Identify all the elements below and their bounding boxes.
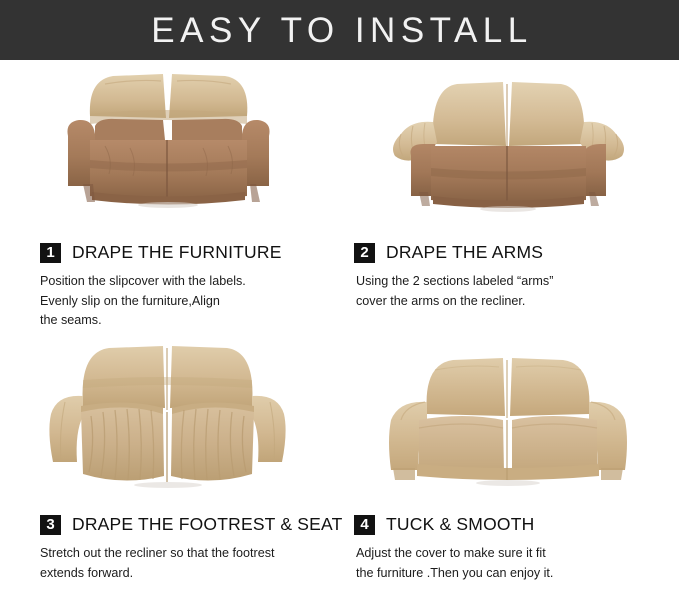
step-number-badge: 3 <box>40 515 61 535</box>
step-heading-2: 2 DRAPE THE ARMS <box>354 242 667 263</box>
step-heading-3: 3 DRAPE THE FOOTREST & SEAT <box>40 514 327 535</box>
step-title: DRAPE THE FURNITURE <box>72 244 282 262</box>
loveseat-fully-covered-svg <box>375 336 645 491</box>
step-title: TUCK & SMOOTH <box>386 516 534 534</box>
step-card-3: 3 DRAPE THE FOOTREST & SEAT Stretch out … <box>0 332 339 604</box>
step-heading-1: 1 DRAPE THE FURNITURE <box>40 242 327 263</box>
illustration-loveseat-arms-covered <box>340 60 679 242</box>
step-body-text: Adjust the cover to make sure it fit the… <box>354 544 667 583</box>
illustration-loveseat-backrest-covered <box>0 60 339 242</box>
step-number-badge: 2 <box>354 243 375 263</box>
step-title: DRAPE THE FOOTREST & SEAT <box>72 516 342 534</box>
step-caption-2: 2 DRAPE THE ARMS Using the 2 sections la… <box>340 242 679 311</box>
step-card-2: 2 DRAPE THE ARMS Using the 2 sections la… <box>340 60 679 332</box>
step-caption-4: 4 TUCK & SMOOTH Adjust the cover to make… <box>340 514 679 583</box>
step-card-1: 1 DRAPE THE FURNITURE Position the slipc… <box>0 60 339 332</box>
step-number-badge: 4 <box>354 515 375 535</box>
step-caption-3: 3 DRAPE THE FOOTREST & SEAT Stretch out … <box>0 514 339 583</box>
step-caption-1: 1 DRAPE THE FURNITURE Position the slipc… <box>0 242 339 331</box>
page-title: EASY TO INSTALL <box>146 13 532 48</box>
step-body-text: Stretch out the recliner so that the foo… <box>40 544 327 583</box>
infographic-page: EASY TO INSTALL <box>0 0 679 605</box>
step-body-text: Position the slipcover with the labels. … <box>40 272 327 331</box>
loveseat-arms-covered-svg <box>375 64 645 214</box>
illustration-loveseat-fully-covered <box>340 332 679 514</box>
step-title: DRAPE THE ARMS <box>386 244 543 262</box>
loveseat-backrest-covered-svg <box>35 64 305 214</box>
loveseat-footrest-seat-covered-svg <box>35 336 305 491</box>
header-banner: EASY TO INSTALL <box>0 0 679 60</box>
illustration-loveseat-footrest-seat-covered <box>0 332 339 514</box>
step-card-4: 4 TUCK & SMOOTH Adjust the cover to make… <box>340 332 679 604</box>
step-body-text: Using the 2 sections labeled “arms” cove… <box>354 272 667 311</box>
step-number-badge: 1 <box>40 243 61 263</box>
step-heading-4: 4 TUCK & SMOOTH <box>354 514 667 535</box>
steps-grid: 1 DRAPE THE FURNITURE Position the slipc… <box>0 60 679 605</box>
